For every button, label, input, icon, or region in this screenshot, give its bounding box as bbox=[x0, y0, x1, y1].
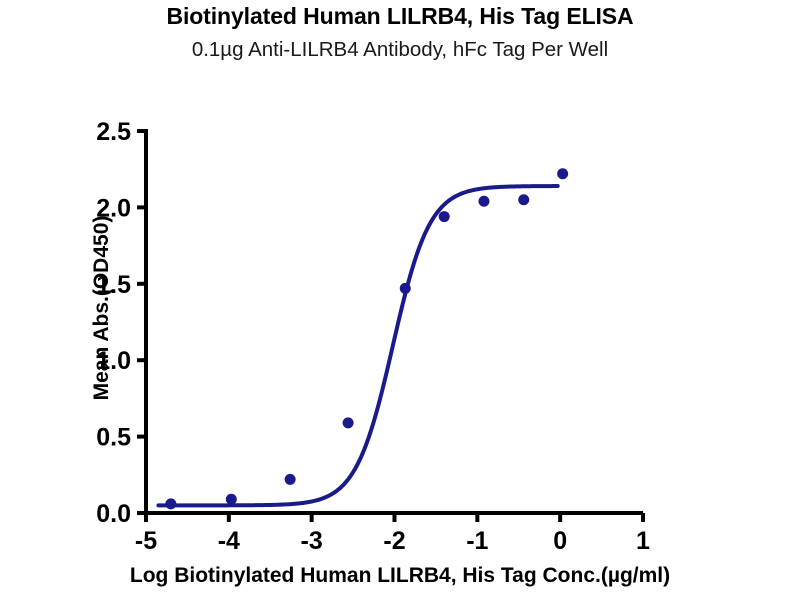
fit-curve bbox=[158, 186, 557, 505]
plot-area: 0.00.51.01.52.02.5 -5-4-3-2-101 bbox=[0, 0, 800, 600]
data-point bbox=[343, 417, 354, 428]
x-tick-label: -3 bbox=[301, 527, 323, 555]
x-tick-labels: -5-4-3-2-101 bbox=[135, 527, 650, 555]
data-point bbox=[400, 283, 411, 294]
data-point bbox=[557, 168, 568, 179]
y-tick-label: 2.0 bbox=[96, 194, 131, 222]
x-tick-label: -2 bbox=[383, 527, 405, 555]
y-tick-label: 0.0 bbox=[96, 500, 131, 528]
data-point bbox=[165, 498, 176, 509]
y-tick-label: 1.5 bbox=[96, 271, 131, 299]
y-tick-label: 0.5 bbox=[96, 424, 131, 452]
y-tick-label: 2.5 bbox=[96, 118, 131, 146]
data-point bbox=[285, 474, 296, 485]
x-tick-label: -4 bbox=[218, 527, 240, 555]
axis-lines bbox=[144, 129, 643, 513]
data-point bbox=[518, 194, 529, 205]
y-tick-labels: 0.00.51.01.52.02.5 bbox=[96, 118, 131, 528]
data-points bbox=[165, 168, 568, 509]
x-tick-label: -1 bbox=[466, 527, 488, 555]
elisa-chart: Biotinylated Human LILRB4, His Tag ELISA… bbox=[0, 0, 800, 600]
x-tick-label: 0 bbox=[553, 527, 567, 555]
data-point bbox=[478, 196, 489, 207]
fit-curve-path bbox=[158, 186, 557, 505]
y-tick-label: 1.0 bbox=[96, 347, 131, 375]
x-tick-label: 1 bbox=[636, 527, 650, 555]
data-point bbox=[226, 494, 237, 505]
x-tick-label: -5 bbox=[135, 527, 157, 555]
data-point bbox=[439, 211, 450, 222]
